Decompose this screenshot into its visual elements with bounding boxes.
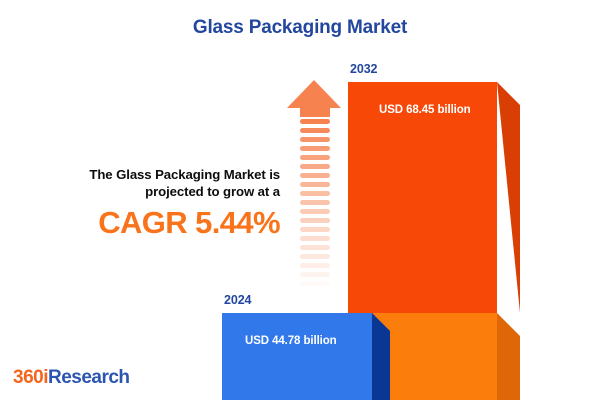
arrow-segment bbox=[300, 254, 330, 259]
arrow-segment bbox=[300, 155, 330, 160]
arrow-segment bbox=[300, 263, 330, 268]
bar-base-value-label: USD 44.78 billion bbox=[245, 335, 337, 347]
page-title: Glass Packaging Market bbox=[0, 17, 600, 39]
bar-base-front bbox=[222, 313, 372, 400]
arrow-head-icon bbox=[287, 80, 341, 108]
brand-logo: 360iResearch bbox=[13, 367, 130, 389]
arrow-neck bbox=[300, 108, 330, 117]
arrow-segment bbox=[300, 290, 330, 295]
bar-forecast-year-label: 2032 bbox=[350, 62, 377, 76]
arrow-segment bbox=[300, 227, 330, 232]
brand-logo-prefix: 360i bbox=[13, 367, 48, 388]
cagr-statement: The Glass Packaging Market is projected … bbox=[48, 166, 280, 240]
arrow-segment bbox=[300, 218, 330, 223]
growth-arrow-icon bbox=[287, 80, 343, 296]
arrow-segment bbox=[300, 182, 330, 187]
bar-base-side bbox=[372, 313, 390, 400]
statement-line-1: The Glass Packaging Market is bbox=[48, 166, 280, 183]
arrow-segment bbox=[300, 137, 330, 142]
arrow-segment bbox=[300, 200, 330, 205]
arrow-segment bbox=[300, 245, 330, 250]
arrow-segment bbox=[300, 236, 330, 241]
brand-logo-suffix: Research bbox=[48, 367, 130, 388]
arrow-segment bbox=[300, 128, 330, 133]
arrow-segment bbox=[300, 281, 330, 286]
statement-line-2: projected to grow at a bbox=[48, 183, 280, 200]
arrow-segment bbox=[300, 209, 330, 214]
bar-forecast-front-upper bbox=[348, 82, 497, 313]
bar-forecast-value-label: USD 68.45 billion bbox=[379, 104, 471, 116]
bar-base-year-label: 2024 bbox=[224, 293, 251, 307]
arrow-segment bbox=[300, 272, 330, 277]
infographic-canvas: Glass Packaging Market The Glass Packagi… bbox=[0, 0, 600, 400]
cagr-value: CAGR 5.44% bbox=[48, 206, 280, 240]
arrow-shaft-segments bbox=[300, 119, 330, 295]
arrow-segment bbox=[300, 146, 330, 151]
bar-forecast-side-upper bbox=[497, 82, 520, 313]
bar-base-2024: 2024 USD 44.78 billion bbox=[222, 313, 390, 400]
arrow-segment bbox=[300, 119, 330, 124]
arrow-segment bbox=[300, 191, 330, 196]
arrow-segment bbox=[300, 164, 330, 169]
arrow-segment bbox=[300, 173, 330, 178]
bar-forecast-side-lower bbox=[497, 313, 520, 400]
